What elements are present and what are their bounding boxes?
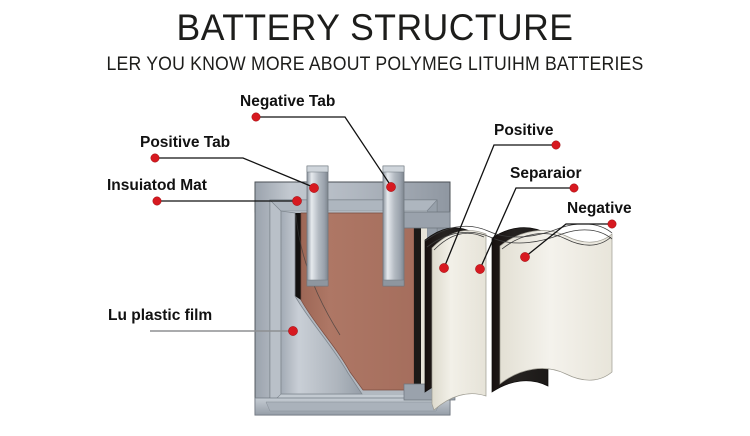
- dot-plastic-film-target: [288, 326, 297, 335]
- pouch-bottom-foot-inner: [266, 402, 440, 411]
- dot-negative-label: [608, 220, 616, 228]
- dot-positive-target: [439, 263, 448, 272]
- layer-cream-2: [500, 231, 612, 384]
- label-positive: Positive: [494, 122, 554, 139]
- dot-negative-tab-label: [252, 113, 260, 121]
- dot-positive-label: [552, 141, 560, 149]
- electrode-edge-strip-left: [295, 213, 301, 300]
- label-insulated-mat: Insuiatod Mat: [107, 177, 207, 194]
- positive-tab-bottom-cap: [307, 280, 328, 286]
- label-plastic-film: Lu plastic film: [108, 307, 212, 324]
- cavity-right-dark-edge: [414, 213, 421, 390]
- positive-tab-top-cap: [307, 166, 328, 172]
- electrode-layer-stack: [425, 224, 612, 410]
- label-positive-tab: Positive Tab: [140, 134, 230, 151]
- dot-separator-label: [570, 184, 578, 192]
- layer-cream-1: [432, 230, 486, 410]
- dot-separator-target: [475, 264, 484, 273]
- negative-tab-top-cap: [383, 166, 404, 172]
- dot-negative-target: [520, 252, 529, 261]
- pouch-right-step: [404, 212, 450, 228]
- inner-frame-bevel-left: [270, 200, 281, 405]
- dot-insulated-mat-target: [292, 196, 301, 205]
- dot-negative-tab-target: [386, 182, 395, 191]
- negative-tab-bottom-cap: [383, 280, 404, 286]
- battery-structure-poster: BATTERY STRUCTURE LER YOU KNOW MORE ABOU…: [0, 0, 750, 436]
- dot-positive-tab-target: [309, 183, 318, 192]
- label-negative-tab: Negative Tab: [240, 93, 335, 110]
- dot-positive-tab-label: [151, 154, 159, 162]
- dot-insulated-mat-label: [153, 197, 161, 205]
- positive-tab-strip: [307, 166, 328, 286]
- battery-structure-diagram: Negative Tab Positive Tab Insuiatod Mat …: [0, 0, 750, 436]
- label-negative: Negative: [567, 200, 632, 217]
- label-separator: Separaior: [510, 165, 582, 182]
